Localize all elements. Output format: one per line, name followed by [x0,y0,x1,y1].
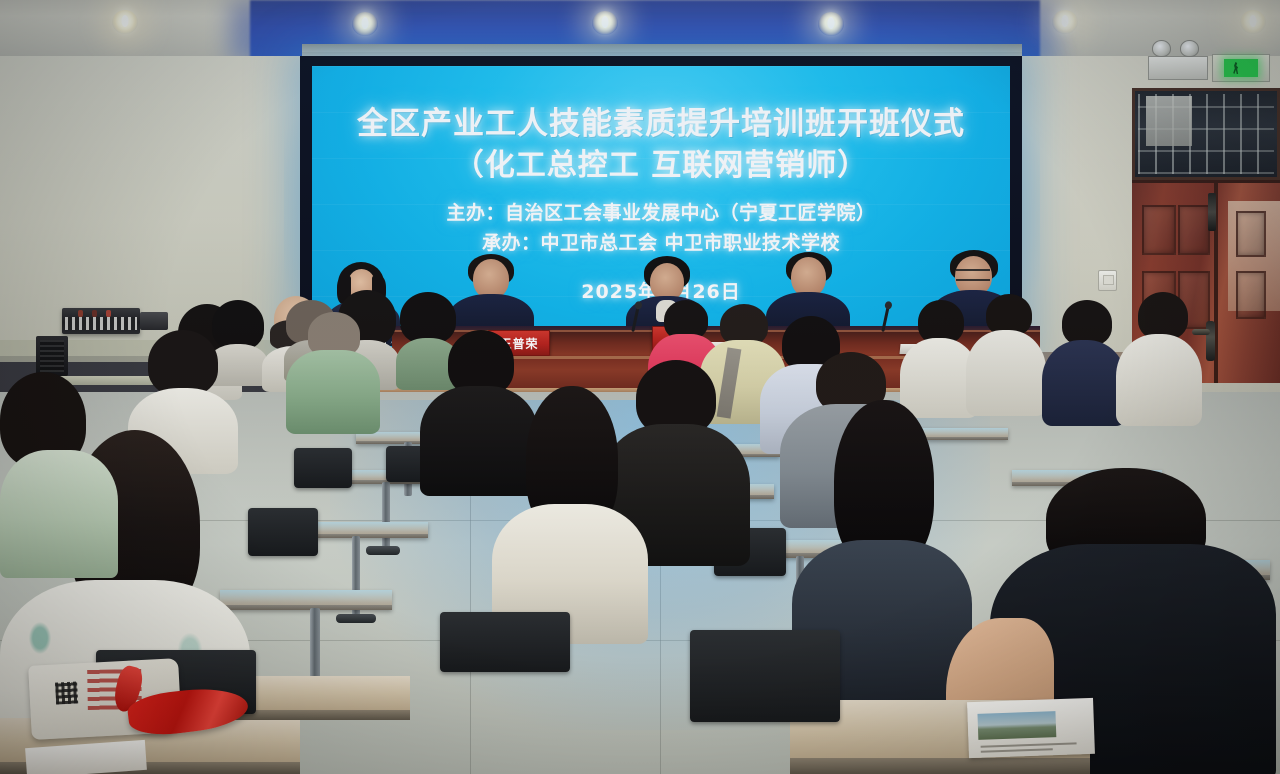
ceiling-spotlight [818,12,844,36]
chair-back [690,630,840,722]
ceiling-spotlight [112,10,138,34]
audience-member [0,372,118,572]
running-man-icon [1224,59,1258,77]
slide-title-line2: （化工总控工 互联网营销师） [312,140,1010,184]
chair-back [248,508,318,556]
exit-sign [1212,54,1270,82]
chair-back [294,448,352,488]
door-lock[interactable] [1208,193,1216,231]
door-panel [1236,211,1266,257]
chair-back [440,612,570,672]
brochure [967,698,1095,758]
window-light-reflection [1146,96,1192,146]
ceiling-spotlight [352,12,378,36]
emergency-lamp [1152,40,1171,57]
audience-member-long-hair [492,386,648,636]
light-switch[interactable] [1098,270,1117,291]
mixer-knob[interactable] [92,310,97,317]
brochure-photo [977,711,1056,740]
meeting-room-photo: 全区产业工人技能素质提升培训班开班仪式 （化工总控工 互联网营销师） 主办：自治… [0,0,1280,774]
mixer-faders [65,317,137,330]
qr-code-icon [55,681,78,704]
slide-title-line1: 全区产业工人技能素质提升培训班开班仪式 [312,98,1010,143]
emergency-light [1148,56,1208,80]
audience-member [1042,300,1126,420]
audience-member [966,294,1046,412]
door-panel [1142,205,1176,255]
slide-coorganizer-line: 承办：中卫市总工会 中卫市职业技术学校 [312,228,1010,255]
mixer-knob[interactable] [78,310,83,317]
slide-organizer-line: 主办：自治区工会事业发展中心（宁夏工匠学院） [312,198,1010,225]
door-handle[interactable] [1206,321,1215,361]
audience-member [1116,292,1202,420]
wall-speaker [36,336,68,376]
ceiling-spotlight [1052,10,1078,34]
ceiling-spotlight [592,11,618,35]
emergency-lamp [1180,40,1199,57]
audience-member-green-hoodie [286,312,380,432]
glasses [956,269,990,281]
av-control-box[interactable] [140,312,168,330]
mixer-knob[interactable] [106,310,111,317]
door-panel [1236,271,1266,319]
ceiling-spotlight [1240,10,1266,34]
door-panel [1178,205,1210,255]
